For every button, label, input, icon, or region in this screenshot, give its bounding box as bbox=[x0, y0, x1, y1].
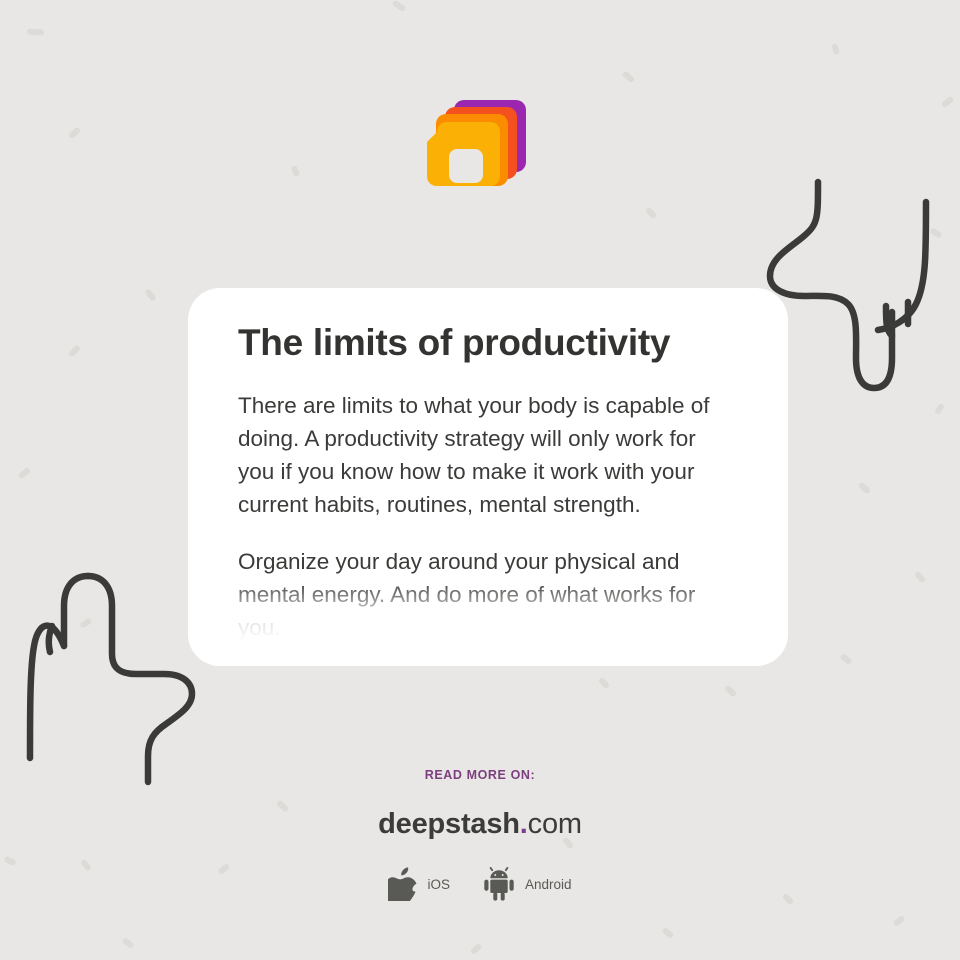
confetti-particle bbox=[858, 481, 872, 494]
store-label-ios: iOS bbox=[427, 877, 450, 892]
confetti-particle bbox=[121, 937, 134, 949]
confetti-particle bbox=[839, 653, 852, 665]
confetti-particle bbox=[18, 467, 32, 480]
android-icon bbox=[482, 867, 516, 901]
confetti-particle bbox=[144, 288, 157, 302]
apple-icon bbox=[388, 867, 418, 901]
confetti-particle bbox=[27, 28, 44, 35]
card-content: The limits of productivity There are lim… bbox=[188, 288, 788, 644]
confetti-particle bbox=[941, 96, 955, 109]
confetti-particle bbox=[724, 684, 738, 697]
logo-inner-cutout bbox=[449, 149, 483, 183]
store-label-android: Android bbox=[525, 877, 572, 892]
footer: READ MORE ON: deepstash.com iOS bbox=[0, 768, 960, 901]
poster-canvas: The limits of productivity There are lim… bbox=[0, 0, 960, 960]
store-badge-android[interactable]: Android bbox=[482, 867, 572, 901]
confetti-particle bbox=[645, 207, 657, 220]
confetti-particle bbox=[831, 43, 840, 55]
confetti-particle bbox=[622, 71, 636, 84]
confetti-particle bbox=[929, 227, 942, 239]
card-paragraph-1: There are limits to what your body is ca… bbox=[238, 389, 738, 521]
read-more-label: READ MORE ON: bbox=[0, 768, 960, 782]
hand-line-art-top-right bbox=[760, 172, 960, 392]
confetti-particle bbox=[934, 403, 945, 415]
brand-tld: com bbox=[528, 808, 582, 840]
page-title: The limits of productivity bbox=[238, 322, 738, 363]
confetti-particle bbox=[68, 344, 81, 358]
confetti-particle bbox=[598, 676, 610, 689]
store-badges: iOS Android bbox=[0, 867, 960, 901]
deepstash-logo bbox=[424, 98, 528, 202]
confetti-particle bbox=[68, 126, 82, 139]
confetti-particle bbox=[470, 943, 483, 955]
confetti-particle bbox=[914, 570, 926, 583]
store-badge-ios[interactable]: iOS bbox=[388, 867, 450, 901]
brand-wordmark[interactable]: deepstash.com bbox=[0, 808, 960, 841]
content-card: The limits of productivity There are lim… bbox=[188, 288, 788, 666]
confetti-particle bbox=[661, 927, 674, 939]
card-paragraph-2: Organize your day around your physical a… bbox=[238, 545, 738, 644]
confetti-particle bbox=[392, 0, 407, 13]
brand-dot: . bbox=[520, 808, 528, 840]
brand-name: deepstash bbox=[378, 808, 520, 840]
confetti-particle bbox=[291, 165, 301, 177]
confetti-particle bbox=[79, 617, 92, 629]
confetti-particle bbox=[892, 915, 905, 927]
